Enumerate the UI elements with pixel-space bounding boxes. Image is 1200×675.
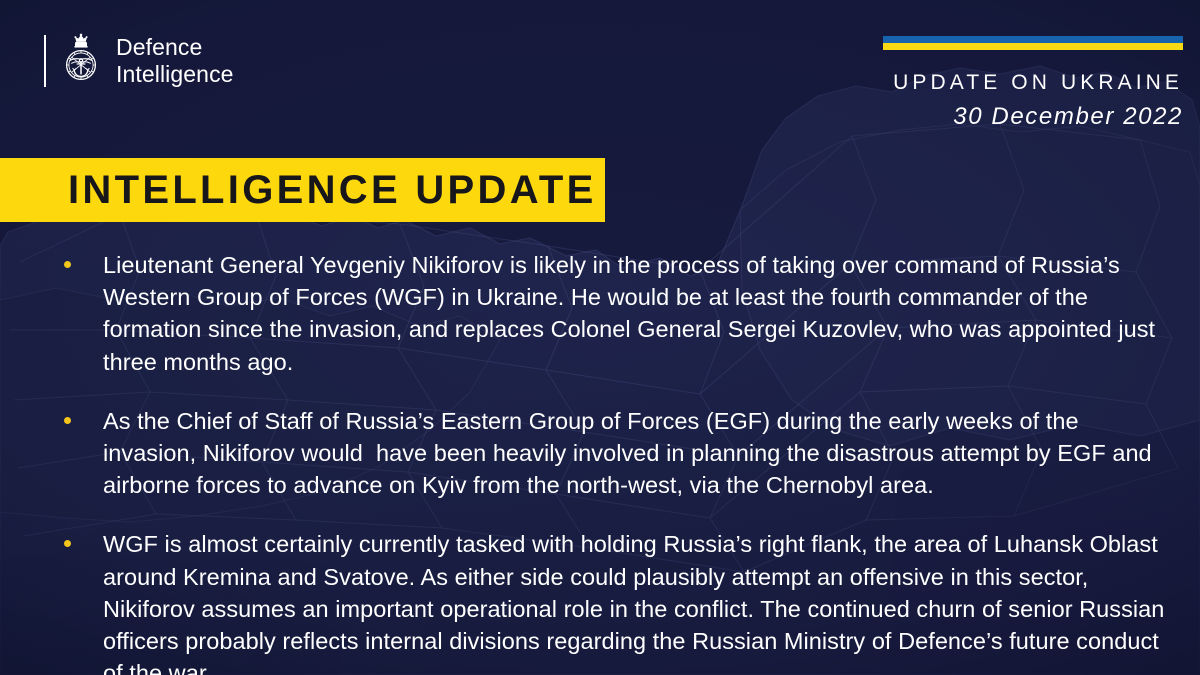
brand-name: Defence Intelligence xyxy=(116,34,234,87)
defence-intelligence-crest-icon xyxy=(58,33,104,89)
bullet-text: Lieutenant General Yevgeniy Nikiforov is… xyxy=(103,249,1170,378)
bullet-dot-icon xyxy=(64,417,71,424)
intelligence-update-banner: INTELLIGENCE UPDATE xyxy=(0,158,605,222)
brand-lockup: Defence Intelligence xyxy=(44,33,234,89)
bullet-dot-icon xyxy=(64,540,71,547)
banner-label: INTELLIGENCE UPDATE xyxy=(68,168,597,213)
brand-divider xyxy=(44,35,46,87)
brand-line-2: Intelligence xyxy=(116,61,234,88)
update-date: 30 December 2022 xyxy=(953,103,1183,131)
bullet-text: WGF is almost certainly currently tasked… xyxy=(103,528,1170,675)
list-item: Lieutenant General Yevgeniy Nikiforov is… xyxy=(0,249,1170,378)
list-item: As the Chief of Staff of Russia’s Easter… xyxy=(0,405,1170,502)
page-header: Defence Intelligence UPDATE ON UKRAINE 3… xyxy=(0,0,1200,150)
bullet-text: As the Chief of Staff of Russia’s Easter… xyxy=(103,405,1170,502)
brand-line-1: Defence xyxy=(116,34,234,61)
intelligence-update-poster: Defence Intelligence UPDATE ON UKRAINE 3… xyxy=(0,0,1200,675)
flag-stripe-blue xyxy=(883,36,1183,43)
ukraine-flag-bar-icon xyxy=(883,36,1183,50)
flag-stripe-yellow xyxy=(883,43,1183,50)
list-item: WGF is almost certainly currently tasked… xyxy=(0,528,1170,675)
bullet-list: Lieutenant General Yevgeniy Nikiforov is… xyxy=(0,249,1170,675)
update-title: UPDATE ON UKRAINE xyxy=(893,71,1183,95)
bullet-dot-icon xyxy=(64,261,71,268)
